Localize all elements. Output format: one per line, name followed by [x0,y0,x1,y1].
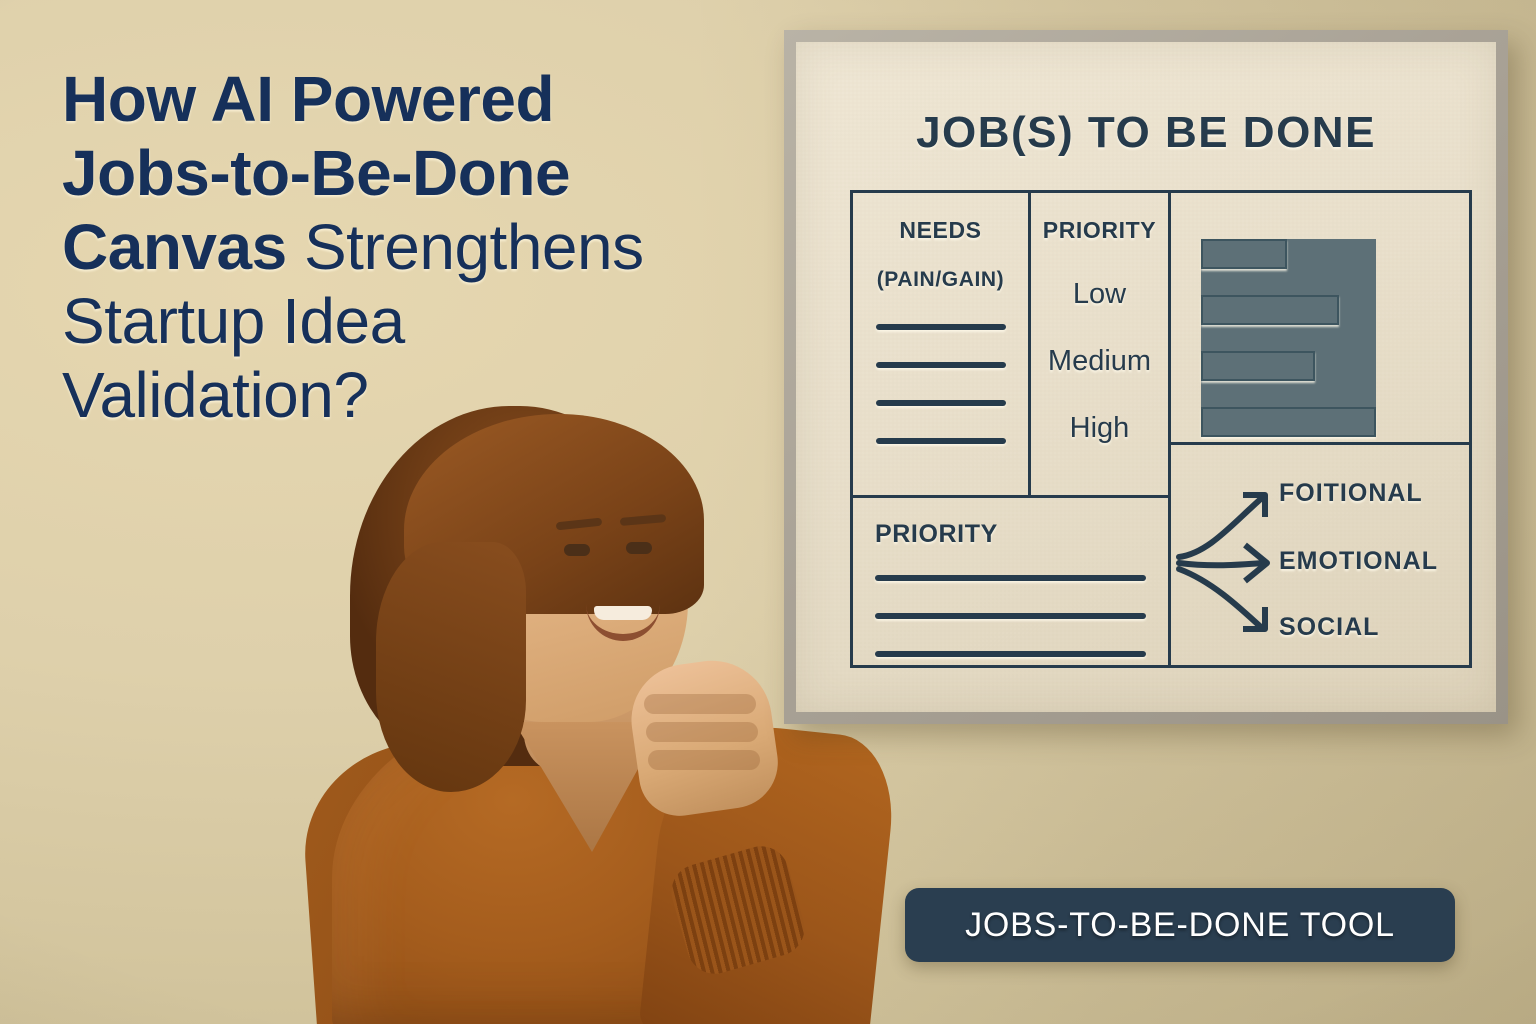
whiteboard-title: JOB(S) TO BE DONE [796,108,1496,158]
canvas-cell-priority-scale: PRIORITY Low Medium High [1031,193,1171,495]
needs-title: NEEDS [853,217,1028,244]
outcome-emotional: EMOTIONAL [1279,547,1438,576]
canvas-cell-needs: NEEDS (PAIN/GAIN) [853,193,1031,495]
priority-notes-title: PRIORITY [875,520,1168,549]
priority-scale-title: PRIORITY [1031,217,1168,244]
jtbd-tool-badge[interactable]: JOBS-TO-BE-DONE TOOL [905,888,1455,962]
needs-write-lines [853,324,1028,444]
priority-line [875,575,1146,581]
outcome-functional: FOITIONAL [1279,479,1423,508]
canvas-cell-bar-chart [1171,193,1472,445]
outcome-branch: FOITIONAL EMOTIONAL SOCIAL [1171,445,1472,668]
needs-subtitle: (PAIN/GAIN) [853,268,1028,292]
priority-line [875,651,1146,657]
outcome-social: SOCIAL [1279,613,1379,642]
jtbd-canvas-grid: NEEDS (PAIN/GAIN) PRIORITY Low Medium [850,190,1472,668]
bar-2 [1201,295,1339,325]
priority-write-lines [875,575,1146,657]
priority-level-medium: Medium [1048,345,1151,378]
needs-line [876,362,1006,368]
canvas-cell-outcomes: FOITIONAL EMOTIONAL SOCIAL [1171,445,1472,668]
poster-canvas: How AI Powered Jobs-to-Be-Done Canvas St… [0,0,1536,1024]
priority-level-low: Low [1073,278,1126,311]
priority-level-high: High [1070,412,1130,445]
needs-line [876,438,1006,444]
whiteboard-frame: JOB(S) TO BE DONE NEEDS (PAIN/GAIN) PRIO… [784,30,1508,724]
priority-line [875,613,1146,619]
needs-line [876,400,1006,406]
priority-levels: Low Medium High [1031,278,1168,445]
bar-chart [1201,239,1376,437]
needs-line [876,324,1006,330]
badge-label: JOBS-TO-BE-DONE TOOL [965,906,1395,945]
canvas-cell-priority-notes: PRIORITY [853,495,1171,668]
bar-4 [1201,407,1376,437]
whiteboard-surface: JOB(S) TO BE DONE NEEDS (PAIN/GAIN) PRIO… [796,42,1496,712]
bar-1 [1201,239,1287,269]
bar-3 [1201,351,1315,381]
